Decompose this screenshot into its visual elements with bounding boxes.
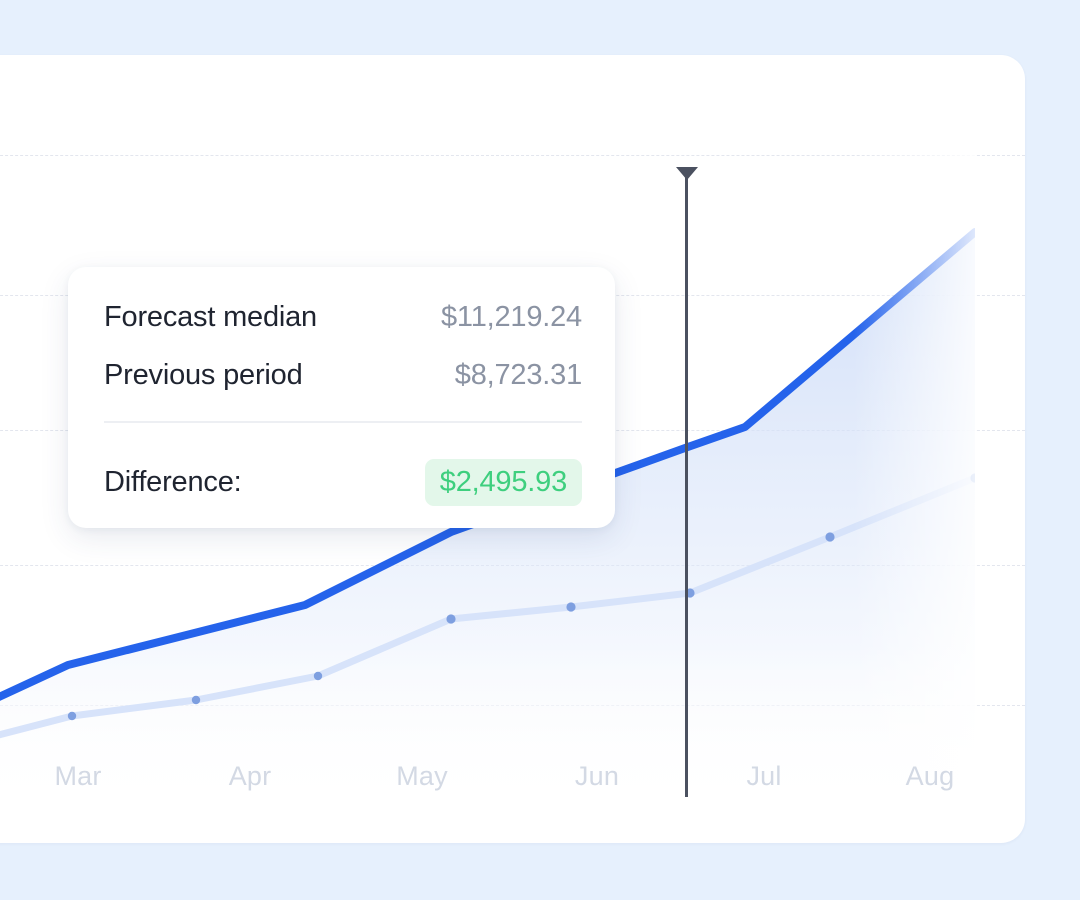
tooltip-value-difference: $2,495.93	[425, 459, 582, 506]
chart-card: Mar Apr May Jun Jul Aug Forecast median …	[0, 55, 1025, 843]
x-tick-label: Jun	[575, 761, 619, 792]
tooltip-label-difference: Difference:	[104, 466, 242, 499]
tooltip-difference-row: Difference: $2,495.93	[104, 459, 582, 506]
tooltip-value-previous-period: $8,723.31	[455, 359, 582, 392]
plot-area: Mar Apr May Jun Jul Aug Forecast median …	[0, 55, 1025, 843]
tooltip-label-previous-period: Previous period	[104, 359, 303, 392]
x-tick-label: Apr	[229, 761, 272, 792]
chart-tooltip: Forecast median $11,219.24 Previous peri…	[68, 267, 615, 528]
x-tick-label: Aug	[906, 761, 955, 792]
tooltip-divider	[104, 421, 582, 423]
tooltip-row: Previous period $8,723.31	[104, 359, 582, 392]
chart-frame: Mar Apr May Jun Jul Aug Forecast median …	[0, 0, 1080, 900]
x-tick-label: May	[396, 761, 448, 792]
tooltip-row: Forecast median $11,219.24	[104, 301, 582, 334]
tooltip-label-forecast-median: Forecast median	[104, 301, 317, 334]
marker-line	[685, 177, 688, 797]
x-tick-label: Jul	[746, 761, 781, 792]
x-tick-label: Mar	[54, 761, 101, 792]
tooltip-value-forecast-median: $11,219.24	[441, 301, 582, 334]
x-axis: Mar Apr May Jun Jul Aug	[0, 755, 1025, 843]
